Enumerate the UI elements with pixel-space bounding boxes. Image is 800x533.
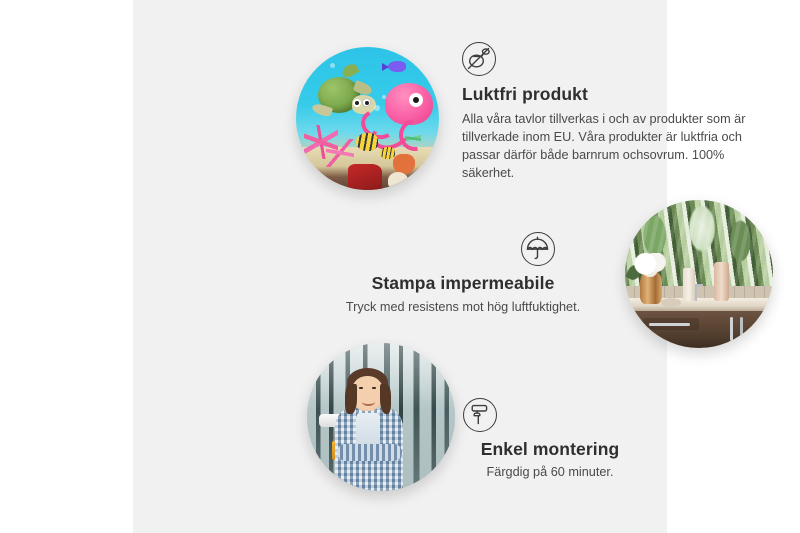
- waterproof-icon-wrap: [329, 232, 597, 273]
- feature-title: Stampa impermeabile: [329, 273, 597, 294]
- cabinet-handle-vertical-right: [740, 317, 743, 341]
- bubble-1: [374, 105, 380, 111]
- tumbler-cup: [714, 262, 729, 300]
- blue-fish: [388, 61, 406, 72]
- turtle-eye-right: [362, 98, 371, 107]
- white-flowers: [634, 253, 667, 277]
- yellow-striped-fish-large: [356, 133, 378, 151]
- woman-hair-side-right: [380, 384, 392, 414]
- starfish: [393, 154, 415, 174]
- woman-folded-arms: [337, 444, 402, 462]
- easy-install-icon-wrap: [435, 398, 665, 439]
- feature-description: Alla våra tavlor tillverkas i och av pro…: [462, 110, 754, 182]
- screenshot-stage: Luktfri produkt Alla våra tavlor tillver…: [0, 0, 800, 533]
- cabinet-handle-vertical-left: [730, 317, 733, 341]
- bubble-2: [382, 95, 386, 99]
- product-image-painter-woman-forest[interactable]: [307, 343, 455, 491]
- drawer-handle-horizontal: [649, 323, 690, 326]
- coral-pink-second: [326, 139, 354, 167]
- paint-roller-icon: [463, 398, 497, 432]
- feature-title: Enkel montering: [435, 439, 665, 460]
- red-rock: [348, 164, 382, 190]
- bubble-3: [330, 63, 335, 68]
- soap-dispenser: [683, 268, 695, 301]
- feature-block-easy-install: Enkel montering Färgdig på 60 minuter.: [435, 398, 665, 481]
- no-odour-icon: [462, 42, 496, 76]
- product-image-bathroom-tropical-wallpaper[interactable]: [625, 200, 773, 348]
- feature-description: Tryck med resistens mot hög luftfuktighe…: [329, 298, 597, 316]
- product-image-underwater-cartoon-scene[interactable]: [296, 47, 439, 190]
- soap-dish: [661, 298, 682, 307]
- woman-smile: [362, 398, 375, 406]
- faucet-stem: [695, 284, 697, 300]
- yellow-striped-fish-small: [380, 147, 395, 159]
- umbrella-icon: [521, 232, 555, 266]
- content-panel: Luktfri produkt Alla våra tavlor tillver…: [133, 0, 667, 533]
- octopus-eye: [409, 93, 423, 107]
- turtle-eye-left: [353, 99, 361, 107]
- feature-title: Luktfri produkt: [462, 84, 754, 105]
- feature-description: Färgdig på 60 minuter.: [435, 463, 665, 481]
- feature-block-odourless: Luktfri produkt Alla våra tavlor tillver…: [462, 42, 754, 182]
- feature-block-waterproof: Stampa impermeabile Tryck med resistens …: [329, 232, 597, 316]
- seashell: [388, 172, 408, 188]
